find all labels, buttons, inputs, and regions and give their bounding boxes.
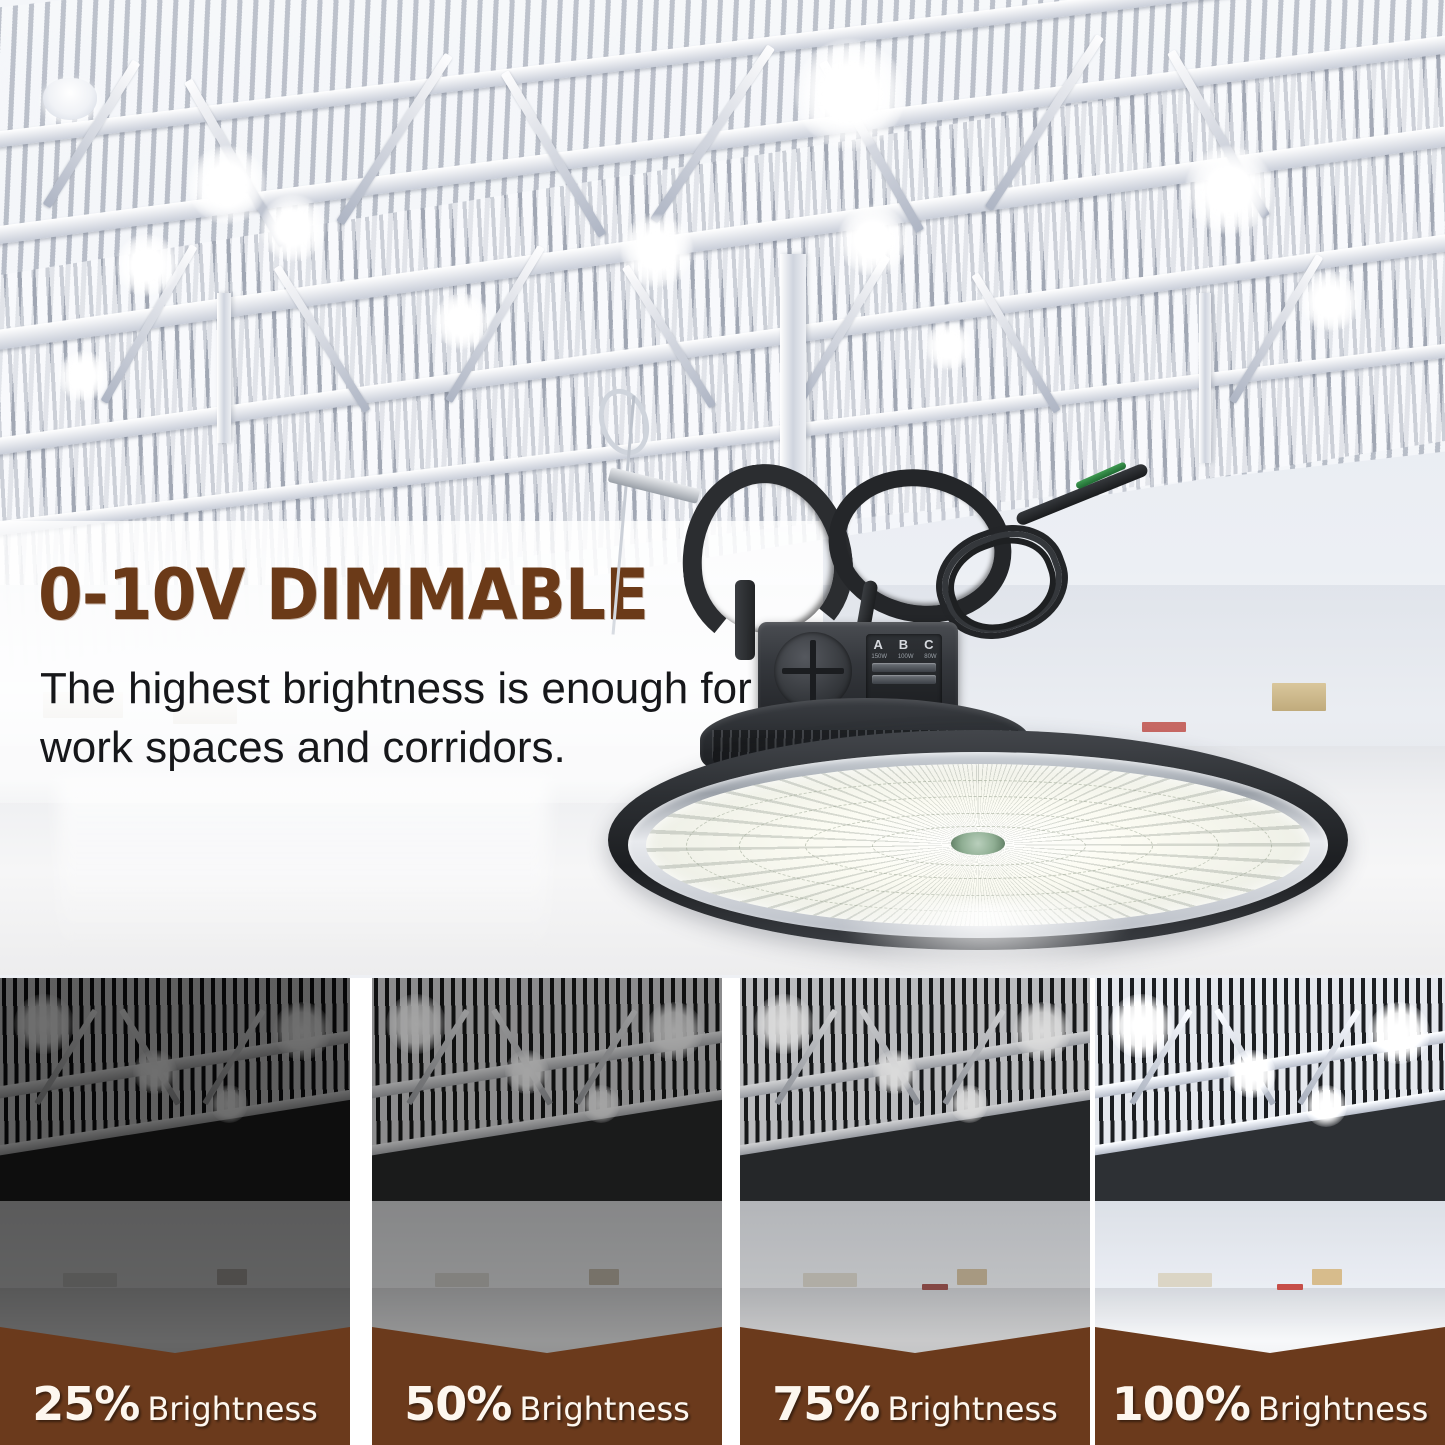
brightness-word: Brightness [1258,1390,1428,1428]
brightness-word: Brightness [147,1390,317,1428]
thumb-lamp [1013,1002,1071,1060]
ceiling-lamp-glow [621,215,693,287]
brightness-percent: 50% [404,1377,511,1431]
ceiling-lamp-glow [188,146,266,224]
thumb-pallet [803,1273,857,1287]
thumb-lamp [950,1085,988,1123]
support-column [217,293,231,443]
thumb-lamp [754,994,814,1054]
brightness-label: 100%Brightness [1095,1377,1445,1431]
power-cable-tail [1015,462,1150,526]
thumb-lamp [873,1050,917,1094]
thumb-lamp [582,1085,620,1123]
warehouse-thumb-100 [1095,978,1445,1376]
plus-mark-vertical [810,640,816,702]
thumb-lamp [14,994,74,1054]
thumb-lamp [505,1050,549,1094]
wattage-option-a: 150W [871,654,887,660]
thumb-pallet [435,1273,489,1287]
ceiling-lamp-glow [838,205,908,275]
brightness-panel-100: 100%Brightness [1095,978,1445,1445]
led-high-bay-fixture: A B C 150W 100W 80W [660,430,1300,950]
thumb-far-wall [0,1201,350,1297]
brightness-panel-75: 75%Brightness [740,978,1090,1445]
lens-center-hub [951,832,1004,855]
brightness-percent: 100% [1112,1377,1250,1431]
thumb-lamp [645,1002,703,1060]
thumb-pallet [63,1273,117,1287]
ceiling-lamp-glow [1185,146,1273,234]
thumb-crate [217,1269,247,1285]
brightness-comparison-strip: 25%Brightness [0,978,1445,1445]
ceiling-lamp [43,78,97,120]
wattage-option-c: 80W [924,654,936,660]
hook-stem [735,580,755,660]
ceiling-lamp-glow [116,234,178,296]
ceiling-lamp-glow [434,293,490,349]
thumb-red-object [922,1284,948,1290]
brightness-percent: 75% [772,1377,879,1431]
thumb-pallet [1158,1273,1212,1287]
ceiling-lamp-glow [260,195,326,261]
dip-switch-1[interactable] [872,663,936,672]
product-feature-image: 0-10V DIMMABLE The highest brightness is… [0,0,1445,1445]
thumb-red-object [1277,1284,1303,1290]
thumb-far-wall [372,1201,722,1297]
ceiling-lamp-glow [1301,273,1359,331]
thumb-lamp [1368,1002,1430,1064]
warehouse-thumb-75 [740,978,1090,1376]
brightness-label: 75%Brightness [740,1377,1090,1431]
brightness-percent: 25% [32,1377,139,1431]
selector-letters: A B C [866,637,942,652]
dip-switch-2[interactable] [872,675,936,684]
thumb-crate [957,1269,987,1285]
brightness-word: Brightness [519,1390,689,1428]
thumb-lamp [1305,1085,1347,1127]
floor-reflection [58,780,549,956]
thumb-lamp [386,994,446,1054]
page-title: 0-10V DIMMABLE [38,554,648,636]
selector-letter-b: B [899,637,909,652]
wattage-options: 150W 100W 80W [866,654,942,660]
thumb-far-wall [1095,1201,1445,1297]
brightness-label: 25%Brightness [0,1377,350,1431]
selector-letter-a: A [873,637,883,652]
brightness-word: Brightness [887,1390,1057,1428]
warehouse-thumb-25 [0,978,350,1376]
thumb-lamp [1228,1050,1276,1098]
ceiling-lamp-glow [795,39,905,149]
thumb-lamp [133,1050,177,1094]
wattage-option-b: 100W [898,654,914,660]
thumb-lamp [273,1002,331,1060]
ceiling-lamp-glow [58,351,108,401]
selector-letter-c: C [924,637,934,652]
thumb-crate [1312,1269,1342,1285]
thumb-lamp [210,1085,248,1123]
brightness-label: 50%Brightness [372,1377,722,1431]
brightness-panel-50: 50%Brightness [372,978,722,1445]
thumb-far-wall [740,1201,1090,1297]
ceiling-lamp-glow [925,322,973,370]
light-glow-pool [840,900,1130,980]
brightness-panel-25: 25%Brightness [0,978,350,1445]
warehouse-thumb-50 [372,978,722,1376]
thumb-crate [589,1269,619,1285]
thumb-lamp [1109,994,1173,1058]
